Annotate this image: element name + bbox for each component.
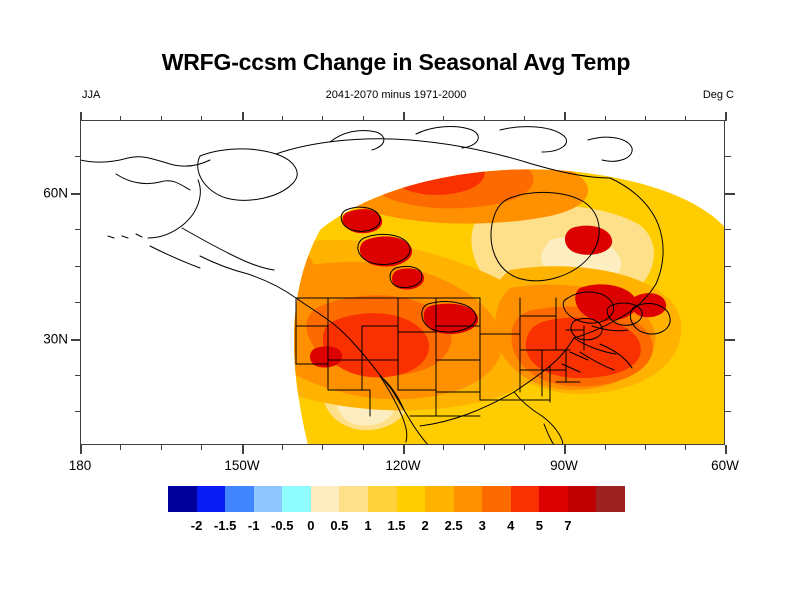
x-minor-tick-top: [484, 116, 485, 121]
x-major-tick: [242, 445, 244, 454]
season-label: JJA: [82, 89, 100, 101]
units-label: Deg C: [703, 89, 734, 101]
x-minor-tick: [645, 445, 646, 450]
chart-subtitle: 2041-2070 minus 1971-2000: [0, 89, 792, 101]
x-minor-tick-top: [605, 116, 606, 121]
y-minor-tick-right: [725, 156, 731, 157]
colorbar-tick-label: 7: [564, 518, 571, 533]
y-minor-tick: [75, 411, 81, 412]
colorbar-tick-label: 2.5: [445, 518, 463, 533]
colorbar-tick-label: 0.5: [330, 518, 348, 533]
colorbar-cell: [339, 486, 368, 512]
x-minor-tick-top: [524, 116, 525, 121]
x-minor-tick-top: [645, 116, 646, 121]
x-minor-tick: [524, 445, 525, 450]
x-minor-tick: [443, 445, 444, 450]
colorbar-tick-label: -1.5: [214, 518, 236, 533]
y-major-tick-right: [725, 339, 735, 341]
x-major-tick-top: [80, 112, 82, 121]
colorbar-cell: [368, 486, 397, 512]
y-major-tick: [71, 339, 81, 341]
x-minor-tick: [484, 445, 485, 450]
colorbar-cell: [568, 486, 597, 512]
x-major-tick-top: [725, 112, 727, 121]
x-minor-tick-top: [282, 116, 283, 121]
longitude-tick-label: 120W: [385, 458, 420, 473]
y-minor-tick-right: [725, 229, 731, 230]
y-minor-tick: [75, 266, 81, 267]
colorbar-tick-label: 4: [507, 518, 514, 533]
y-minor-tick-right: [725, 411, 731, 412]
x-minor-tick: [201, 445, 202, 450]
x-minor-tick-top: [685, 116, 686, 121]
page-title: WRFG-ccsm Change in Seasonal Avg Temp: [0, 49, 792, 76]
colorbar-cell: [311, 486, 340, 512]
y-minor-tick: [75, 156, 81, 157]
colorbar-cell: [596, 486, 625, 512]
climate-map-figure: WRFG-ccsm Change in Seasonal Avg Temp 20…: [0, 0, 792, 612]
colorbar-tick-label: 5: [536, 518, 543, 533]
y-minor-tick-right: [725, 375, 731, 376]
colorbar-tick-label: 1: [364, 518, 371, 533]
map-svg: [80, 120, 725, 445]
colorbar: [168, 486, 625, 512]
longitude-tick-label: 60W: [711, 458, 739, 473]
x-minor-tick-top: [363, 116, 364, 121]
latitude-tick-label: 60N: [0, 186, 68, 201]
y-minor-tick: [75, 375, 81, 376]
colorbar-tick-label: 0: [307, 518, 314, 533]
colorbar-cell: [197, 486, 226, 512]
colorbar-cell: [168, 486, 197, 512]
colorbar-tick-label: -0.5: [271, 518, 293, 533]
x-minor-tick: [322, 445, 323, 450]
y-minor-tick: [75, 302, 81, 303]
x-major-tick-top: [564, 112, 566, 121]
map-plot-area: [80, 120, 725, 445]
x-major-tick: [725, 445, 727, 454]
colorbar-tick-label: 3: [479, 518, 486, 533]
colorbar-cell: [254, 486, 283, 512]
latitude-tick-label: 30N: [0, 332, 68, 347]
y-minor-tick-right: [725, 266, 731, 267]
temperature-anomaly-field: [80, 120, 725, 445]
y-minor-tick: [75, 229, 81, 230]
x-major-tick-top: [242, 112, 244, 121]
colorbar-cell: [397, 486, 426, 512]
longitude-tick-label: 180: [69, 458, 92, 473]
colorbar-cell: [425, 486, 454, 512]
colorbar-cell: [225, 486, 254, 512]
x-minor-tick-top: [161, 116, 162, 121]
y-minor-tick-right: [725, 302, 731, 303]
map-contents: [80, 120, 725, 445]
x-major-tick-top: [403, 112, 405, 121]
x-minor-tick-top: [201, 116, 202, 121]
longitude-tick-label: 150W: [224, 458, 259, 473]
longitude-tick-label: 90W: [550, 458, 578, 473]
x-minor-tick: [685, 445, 686, 450]
colorbar-tick-label: 1.5: [387, 518, 405, 533]
colorbar-cell: [482, 486, 511, 512]
colorbar-tick-label: -2: [191, 518, 203, 533]
colorbar-tick-label: 2: [421, 518, 428, 533]
y-major-tick-right: [725, 193, 735, 195]
y-major-tick: [71, 193, 81, 195]
x-minor-tick: [605, 445, 606, 450]
x-major-tick: [80, 445, 82, 454]
x-minor-tick: [161, 445, 162, 450]
x-minor-tick: [363, 445, 364, 450]
x-minor-tick-top: [120, 116, 121, 121]
colorbar-cell: [454, 486, 483, 512]
colorbar-cell: [511, 486, 540, 512]
colorbar-cell: [282, 486, 311, 512]
x-minor-tick: [282, 445, 283, 450]
colorbar-tick-label: -1: [248, 518, 260, 533]
x-minor-tick-top: [322, 116, 323, 121]
x-major-tick: [564, 445, 566, 454]
colorbar-cell: [539, 486, 568, 512]
x-minor-tick-top: [443, 116, 444, 121]
x-major-tick: [403, 445, 405, 454]
x-minor-tick: [120, 445, 121, 450]
